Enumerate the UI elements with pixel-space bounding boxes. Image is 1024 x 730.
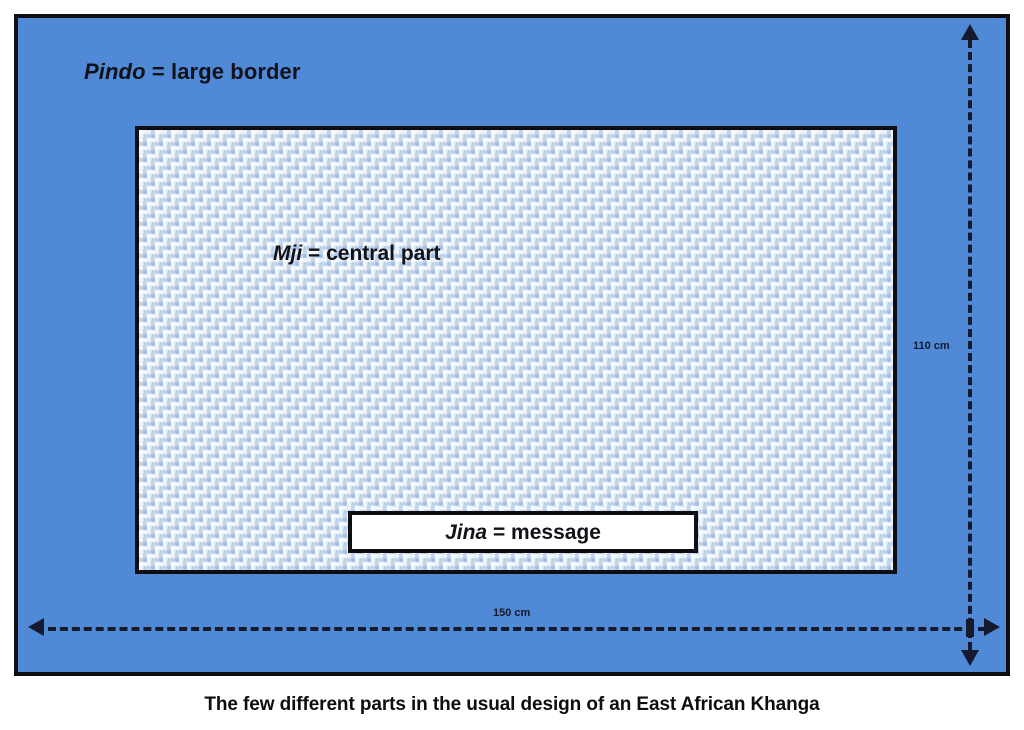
mji-definition: = central part (308, 242, 440, 265)
width-dimension-line (48, 627, 986, 631)
jina-term: Jina (445, 521, 487, 544)
height-arrow-down-icon (961, 650, 979, 666)
dimension-cross-tick (966, 619, 974, 637)
width-dimension-label: 150 cm (490, 607, 533, 619)
mji-central-panel: Mji = central part Jina = message (135, 126, 897, 574)
height-dimension-line (968, 40, 972, 650)
jina-definition: = message (493, 521, 601, 544)
pindo-definition: = large border (152, 59, 301, 84)
pindo-label: Pindo = large border (84, 59, 301, 85)
height-arrow-up-icon (961, 24, 979, 40)
jina-message-box: Jina = message (348, 511, 698, 553)
figure-caption: The few different parts in the usual des… (0, 694, 1024, 716)
width-arrow-right-icon (984, 618, 1000, 636)
width-arrow-left-icon (28, 618, 44, 636)
mji-term: Mji (273, 242, 302, 265)
pindo-term: Pindo (84, 59, 146, 84)
jina-label: Jina = message (445, 522, 601, 543)
khanga-diagram-frame: Pindo = large border Mji = central part … (14, 14, 1010, 676)
mji-label: Mji = central part (273, 242, 441, 266)
height-dimension-label: 110 cm (913, 340, 950, 352)
